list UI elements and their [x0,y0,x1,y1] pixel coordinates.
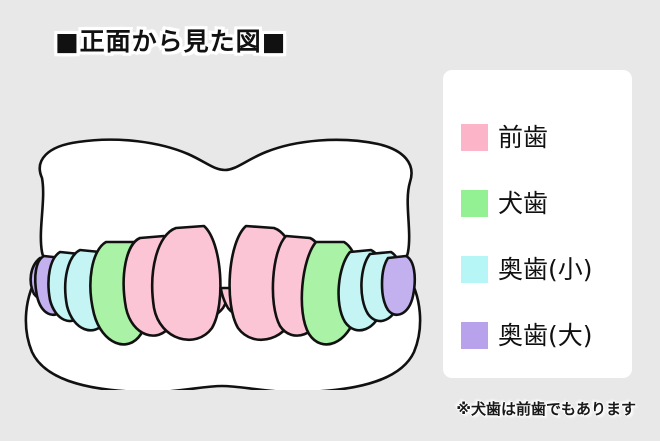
upper-tooth-molar-right [382,256,415,315]
page-title: ■正面から見た図■ [55,22,286,58]
legend-swatch-front-teeth [461,124,488,151]
legend-label-small-molar: 奥歯(小) [498,257,593,282]
legend-item-small-molar: 奥歯(小) [461,236,632,302]
legend-swatch-small-molar [461,256,488,283]
legend-item-canine: 犬歯 [461,170,632,236]
front-view-teeth-illustration [0,60,450,390]
legend-label-large-molar: 奥歯(大) [498,323,593,348]
footnote-text: ※犬歯は前歯でもあります [456,398,636,419]
diagram-canvas: ■正面から見た図■ 前歯 犬歯 奥歯(小) 奥歯(大) ※犬歯は前歯でもあります [0,0,660,441]
legend-panel: 前歯 犬歯 奥歯(小) 奥歯(大) [443,70,632,378]
legend-swatch-large-molar [461,322,488,349]
legend-label-canine: 犬歯 [498,191,548,216]
legend-item-front-teeth: 前歯 [461,104,632,170]
legend-label-front-teeth: 前歯 [498,125,548,150]
legend-item-large-molar: 奥歯(大) [461,302,632,368]
legend-swatch-canine [461,190,488,217]
upper-tooth-central-incisor-left [152,226,220,340]
